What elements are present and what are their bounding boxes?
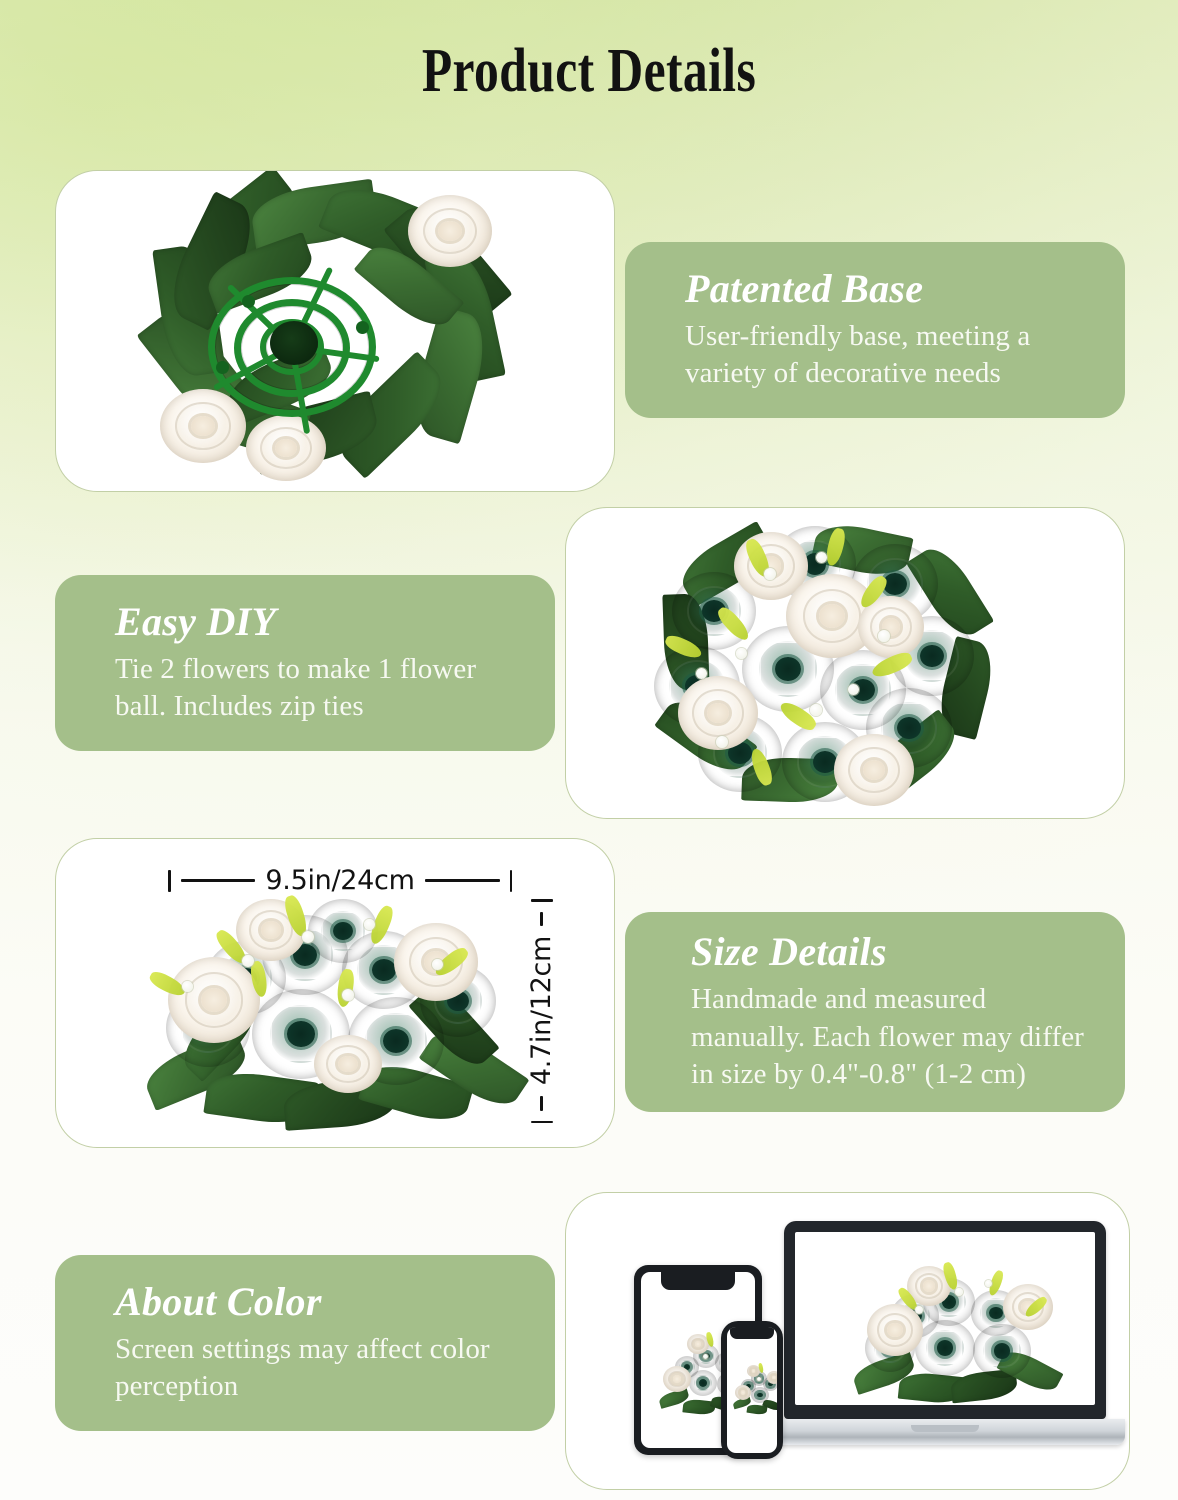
- about-color-text-card: About Color Screen settings may affect c…: [55, 1255, 555, 1431]
- dim-cap-right: [510, 870, 513, 892]
- laptop-deck: [765, 1419, 1126, 1445]
- size-details-heading: Size Details: [691, 930, 1091, 975]
- easy-diy-image-card: [565, 507, 1125, 819]
- tablet-camera-notch: [661, 1272, 735, 1290]
- about-color-heading: About Color: [115, 1280, 521, 1325]
- phone-camera-notch: [730, 1327, 774, 1339]
- flower-arrangement-measured-image: 9.5in/24cm 4.7in/12cm: [56, 839, 614, 1147]
- laptop-screen: [795, 1232, 1095, 1405]
- size-details-image-card: 9.5in/24cm 4.7in/12cm: [55, 838, 615, 1148]
- dim-line-bottom: [540, 1096, 543, 1111]
- device-mockups-image: [566, 1193, 1129, 1489]
- height-dimension-label: 4.7in/12cm: [526, 936, 557, 1085]
- dim-cap-bottom: [531, 1121, 553, 1124]
- flower-base-underside-image: [56, 171, 614, 491]
- patented-base-image-card: [55, 170, 615, 492]
- dim-cap-left: [168, 870, 171, 892]
- flower-ball-image: [566, 508, 1124, 818]
- patented-base-body: User-friendly base, meeting a variety of…: [685, 318, 1091, 393]
- laptop-lid: [784, 1221, 1106, 1419]
- phone-screen: [727, 1327, 777, 1453]
- width-dimension-label: 9.5in/24cm: [265, 865, 414, 896]
- dim-line-left: [181, 879, 256, 882]
- patented-base-heading: Patented Base: [685, 267, 1091, 312]
- easy-diy-text-card: Easy DIY Tie 2 flowers to make 1 flower …: [55, 575, 555, 751]
- about-color-image-card: [565, 1192, 1130, 1490]
- height-dimension-callout: 4.7in/12cm: [526, 899, 557, 1123]
- size-details-text-card: Size Details Handmade and measured manua…: [625, 912, 1125, 1112]
- patented-base-text-card: Patented Base User-friendly base, meetin…: [625, 242, 1125, 418]
- size-details-body: Handmade and measured manually. Each flo…: [691, 981, 1091, 1094]
- dim-line-right: [425, 879, 500, 882]
- page-title: Product Details: [118, 36, 1060, 107]
- phone-mockup: [721, 1321, 783, 1459]
- about-color-body: Screen settings may affect color percept…: [115, 1331, 521, 1406]
- dim-cap-top: [531, 899, 553, 902]
- easy-diy-heading: Easy DIY: [115, 600, 521, 645]
- easy-diy-body: Tie 2 flowers to make 1 flower ball. Inc…: [115, 651, 521, 726]
- laptop-trackpad-notch: [911, 1425, 979, 1432]
- laptop-mockup: [784, 1221, 1106, 1445]
- width-dimension-callout: 9.5in/24cm: [168, 865, 512, 896]
- dim-line-top: [540, 912, 543, 927]
